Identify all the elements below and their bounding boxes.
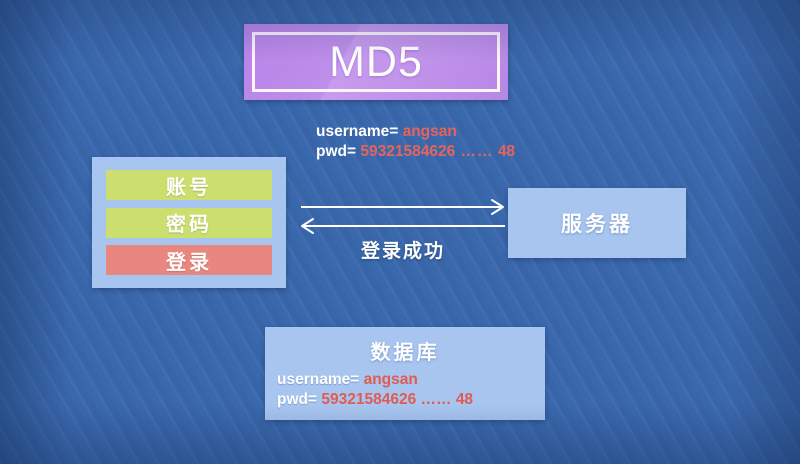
database-box: 数据库 username= angsan pwd= 59321584626 ……… [265,327,545,420]
wire-pwd-ellipsis-dots: …… [461,143,494,160]
db-username-line: username= angsan [277,370,545,390]
request-arrow-right [301,200,503,214]
wire-pwd-tail-value: 48 [498,143,515,160]
md5-title-text: MD5 [329,41,423,84]
md5-banner-inner-border: MD5 [252,32,500,92]
wire-pwd-key: pwd= [316,143,360,160]
db-pwd-line: pwd= 59321584626 …… 48 [277,390,545,410]
wire-username-line: username= angsan [316,122,576,142]
response-arrow-left [302,219,505,233]
wire-pwd-value: 59321584626 [360,143,455,160]
db-pwd-ellipsis: …… [421,391,452,408]
diagram-canvas: MD5 账号 密码 登录 username= angsan pwd= 59321… [0,0,800,464]
login-success-label: 登录成功 [300,236,506,263]
database-title: 数据库 [265,336,545,365]
password-field[interactable]: 密码 [106,208,272,238]
wire-credentials: username= angsan pwd= 59321584626 …… 48 [316,122,576,162]
login-button[interactable]: 登录 [106,245,272,275]
db-pwd-key: pwd= [277,391,321,408]
db-username-key: username= [277,371,364,388]
database-credentials: username= angsan pwd= 59321584626 …… 48 [265,370,545,410]
wire-username-value: angsan [403,123,457,140]
server-box: 服务器 [508,188,686,258]
account-field[interactable]: 账号 [106,170,272,200]
db-pwd-tail: 48 [456,391,473,408]
wire-pwd-line: pwd= 59321584626 …… 48 [316,142,576,162]
wire-username-key: username= [316,123,403,140]
db-pwd-value: 59321584626 [321,391,416,408]
client-login-panel: 账号 密码 登录 [92,157,286,288]
md5-title-banner: MD5 [244,24,508,100]
db-username-value: angsan [364,371,418,388]
server-label: 服务器 [561,208,633,238]
